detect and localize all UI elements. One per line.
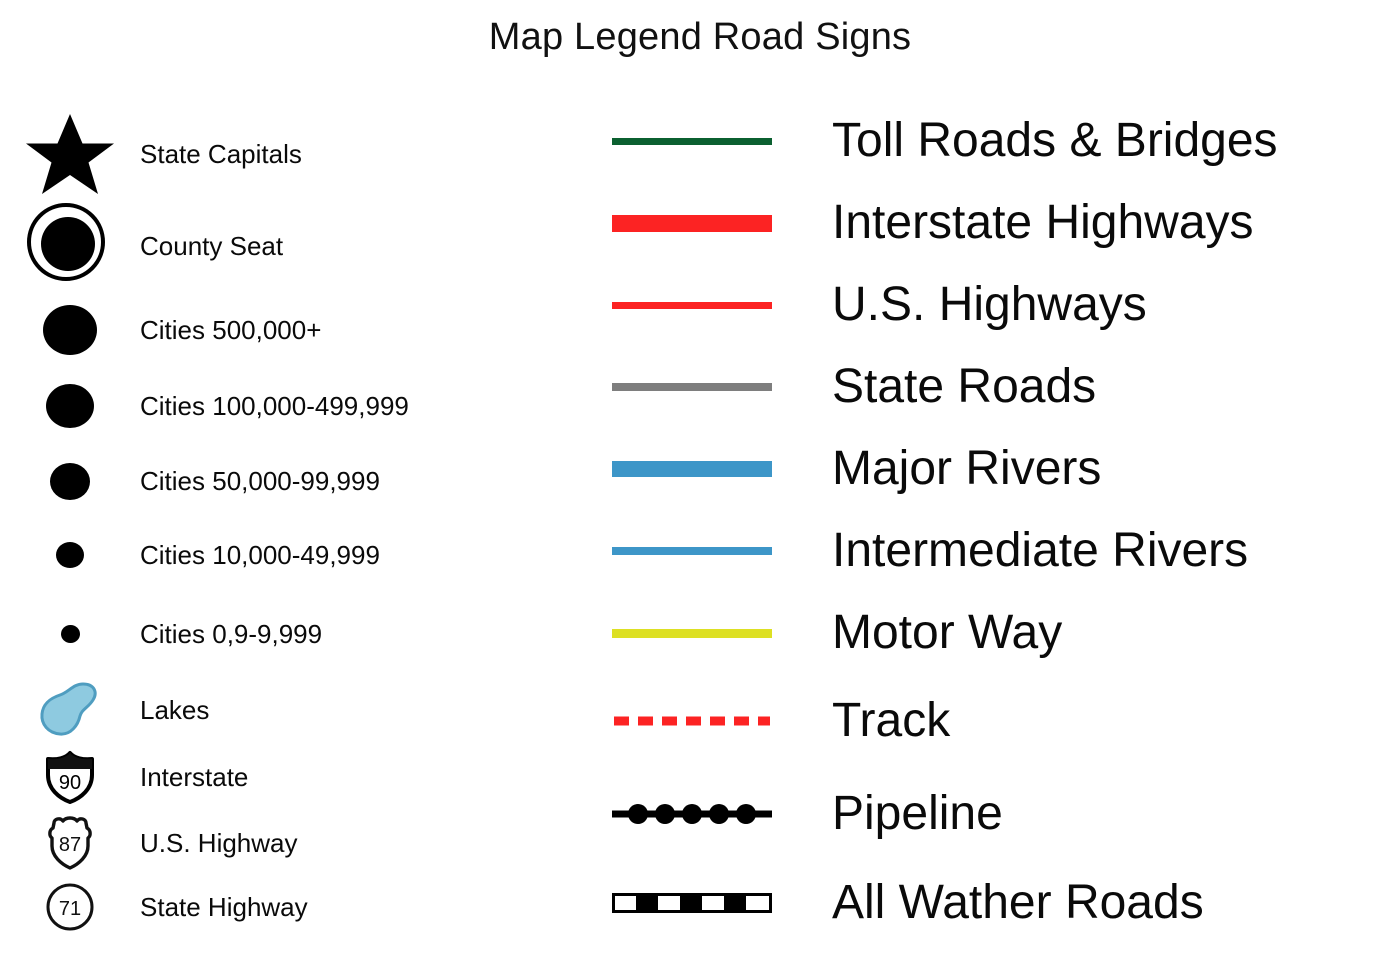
track-swatch [600,701,832,741]
interstate-shield-icon: 90 [0,749,140,805]
legend-label: State Capitals [140,141,302,167]
legend-row-cities-500k: Cities 500,000+ [0,292,580,368]
legend-label: Motor Way [832,609,1062,657]
legend-label: State Roads [832,363,1096,411]
city-dot-md-symbol [0,463,140,500]
legend-row-toll-roads: Toll Roads & Bridges [600,100,1400,182]
legend-row-cities-small: Cities 0,9-9,999 [0,592,580,676]
legend-label: State Highway [140,894,308,920]
legend-row-state-roads: State Roads [600,346,1400,428]
city-dot-lg-symbol [0,384,140,428]
legend-row-state-capitals: State Capitals [0,108,580,200]
lake-symbol [0,679,140,741]
us-highway-shield-icon: 87 [0,814,140,872]
toll-roads-swatch [600,121,832,161]
county-seat-symbol [0,203,140,289]
legend-label: Cities 0,9-9,999 [140,621,322,647]
legend-row-state-highway: 71 State Highway [0,876,580,938]
state-highway-circle-icon: 71 [0,881,140,933]
legend-row-cities-50k: Cities 50,000-99,999 [0,444,580,518]
legend-row-intermediate-rivers: Intermediate Rivers [600,510,1400,592]
legend-row-us-highways: U.S. Highways [600,264,1400,346]
legend-label: Cities 100,000-499,999 [140,393,409,419]
legend-label: Cities 10,000-49,999 [140,542,380,568]
legend-row-motor-way: Motor Way [600,592,1400,674]
legend-label: Lakes [140,697,209,723]
interstate-highways-swatch [600,203,832,243]
city-dot-xl-symbol [0,305,140,355]
legend-label: Interstate Highways [832,199,1254,247]
legend-label: U.S. Highways [832,281,1147,329]
state-highway-number: 71 [59,898,81,920]
intermediate-rivers-swatch [600,531,832,571]
all-wather-roads-swatch [600,883,832,923]
legend-label: Intermediate Rivers [832,527,1248,575]
legend-label: Interstate [140,764,248,790]
legend-row-major-rivers: Major Rivers [600,428,1400,510]
city-dot-sm-symbol [0,542,140,568]
us-highway-shield-number: 87 [59,834,81,856]
legend-row-county-seat: County Seat [0,200,580,292]
state-roads-swatch [600,367,832,407]
symbol-legend-column: State Capitals County Seat Cities 500,00… [0,108,580,938]
us-highways-swatch [600,285,832,325]
legend-row-us-highway: 87 U.S. Highway [0,810,580,876]
interstate-shield-number: 90 [59,772,81,794]
legend-label: Toll Roads & Bridges [832,117,1278,165]
motor-way-swatch [600,613,832,653]
legend-row-pipeline: Pipeline [600,768,1400,860]
legend-label: U.S. Highway [140,830,298,856]
county-seat-dot [41,217,95,271]
legend-row-all-wather-roads: All Wather Roads [600,860,1400,946]
legend-label: Track [832,697,950,745]
legend-row-interstate: 90 Interstate [0,744,580,810]
legend-row-lakes: Lakes [0,676,580,744]
legend-label: All Wather Roads [832,879,1204,927]
legend-label: Pipeline [832,790,1003,838]
pipeline-swatch [600,794,832,834]
legend-row-cities-10k: Cities 10,000-49,999 [0,518,580,592]
legend-row-cities-100k: Cities 100,000-499,999 [0,368,580,444]
legend-label: County Seat [140,233,283,259]
legend-label: Cities 500,000+ [140,317,321,343]
line-legend-column: Toll Roads & Bridges Interstate Highways… [600,100,1400,946]
city-dot-xs-symbol [0,625,140,643]
star-symbol [0,110,140,198]
legend-label: Cities 50,000-99,999 [140,468,380,494]
page-title: Map Legend Road Signs [0,16,1400,59]
legend-row-track: Track [600,674,1400,768]
major-rivers-swatch [600,449,832,489]
legend-label: Major Rivers [832,445,1101,493]
legend-row-interstate-highways: Interstate Highways [600,182,1400,264]
